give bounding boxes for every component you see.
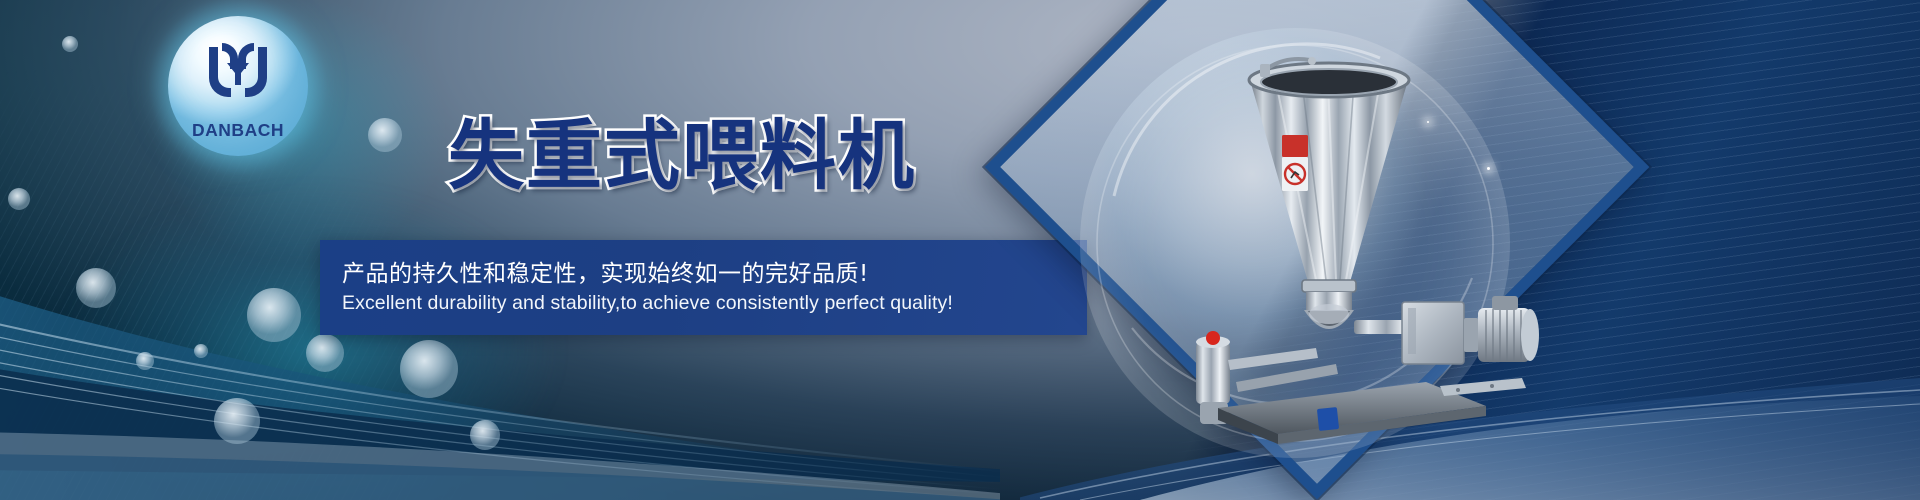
- danbach-monogram-icon: [197, 41, 279, 103]
- bokeh-circle: [247, 288, 301, 342]
- bokeh-circle: [136, 352, 154, 370]
- promo-banner: DANBACH 失重式喂料机 产品的持久性和稳定性，实现始终如一的完好品质! E…: [0, 0, 1920, 500]
- ribbon-curves-left: [0, 170, 1000, 500]
- brand-logo-text: DANBACH: [192, 120, 284, 141]
- subtitle-chinese: 产品的持久性和稳定性，实现始终如一的完好品质!: [342, 254, 869, 288]
- page-title: 失重式喂料机: [448, 118, 916, 194]
- brand-logo[interactable]: DANBACH: [168, 16, 308, 156]
- bokeh-circle: [368, 118, 402, 152]
- bokeh-circle: [8, 188, 30, 210]
- bokeh-circle: [306, 334, 344, 372]
- bokeh-circle: [76, 268, 116, 308]
- product-image-loss-in-weight-feeder: [1140, 30, 1560, 460]
- bokeh-circle: [400, 340, 458, 398]
- bokeh-circle: [470, 420, 500, 450]
- bokeh-circle: [194, 344, 208, 358]
- subtitle-english: Excellent durability and stability,to ac…: [342, 292, 953, 315]
- subtitle-box: 产品的持久性和稳定性，实现始终如一的完好品质! Excellent durabi…: [320, 240, 1087, 335]
- bokeh-circle: [214, 398, 260, 444]
- warning-label: [1282, 135, 1308, 157]
- bokeh-circle: [62, 36, 78, 52]
